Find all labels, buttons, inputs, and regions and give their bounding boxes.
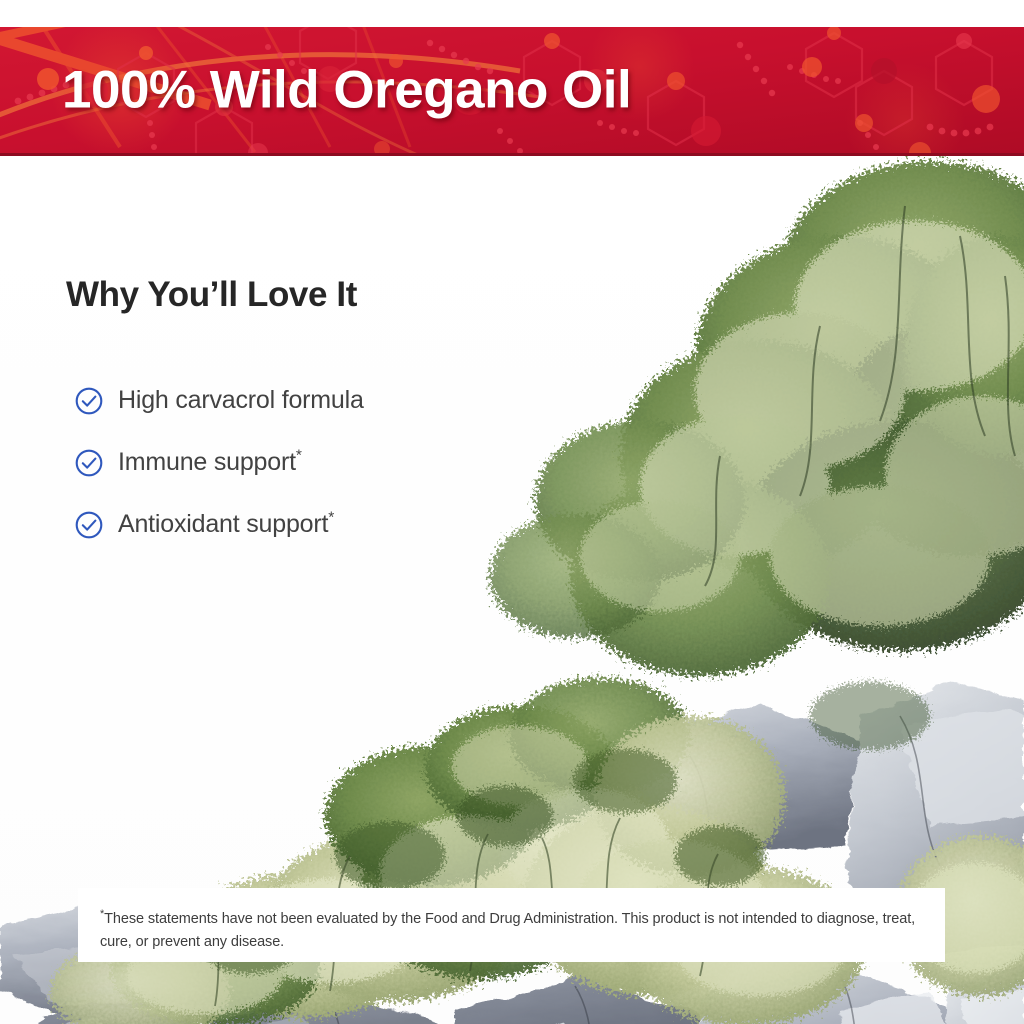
- top-gutter: [0, 0, 1024, 27]
- disclaimer-text: *These statements have not been evaluate…: [100, 908, 923, 955]
- header-banner: 100% Wild Oregano Oil: [0, 27, 1024, 156]
- fda-disclaimer: *These statements have not been evaluate…: [78, 888, 945, 962]
- banner-title: 100% Wild Oregano Oil: [62, 60, 631, 121]
- product-infographic: 100% Wild Oregano Oil: [0, 0, 1024, 1024]
